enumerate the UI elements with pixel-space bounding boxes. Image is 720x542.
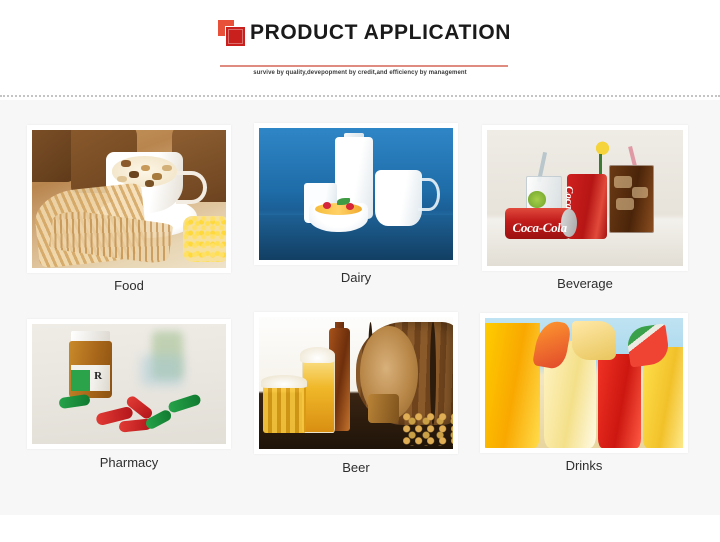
product-image-drinks xyxy=(485,318,683,448)
thumbnail-frame-beer xyxy=(254,312,458,454)
product-card-drinks[interactable]: Drinks xyxy=(480,313,688,453)
coca-cola-logo-front: Coca-Cola xyxy=(512,220,566,236)
product-label-beer: Beer xyxy=(254,460,458,475)
product-image-pharmacy: R xyxy=(32,324,226,444)
product-label-dairy: Dairy xyxy=(254,270,458,285)
product-image-food xyxy=(32,130,226,268)
title-underline-rule xyxy=(220,65,508,67)
prescription-rx-mark: R xyxy=(94,370,102,382)
page-title: PRODUCT APPLICATION xyxy=(250,18,508,48)
thumbnail-frame-drinks xyxy=(480,313,688,453)
product-label-drinks: Drinks xyxy=(480,458,688,473)
thumbnail-frame-beverage: Coca-Cola Coca-Cola xyxy=(482,125,688,271)
product-label-beverage: Beverage xyxy=(482,276,688,291)
logo-square-front-icon xyxy=(225,26,246,47)
title-row: PRODUCT APPLICATION xyxy=(212,18,508,50)
product-card-dairy[interactable]: Dairy xyxy=(254,123,458,265)
product-label-food: Food xyxy=(27,278,231,293)
page-subtitle: survive by quality,devepopment by credit… xyxy=(212,70,508,76)
thumbnail-frame-pharmacy: R xyxy=(27,319,231,449)
thumbnail-frame-dairy xyxy=(254,123,458,265)
product-image-beer xyxy=(259,317,453,449)
two-red-squares-logo-icon xyxy=(218,20,252,48)
product-label-pharmacy: Pharmacy xyxy=(27,455,231,470)
product-card-beer[interactable]: Beer xyxy=(254,312,458,454)
product-card-beverage[interactable]: Coca-Cola Coca-Cola Beverage xyxy=(482,125,688,271)
brand-block: PRODUCT APPLICATION survive by quality,d… xyxy=(212,18,508,50)
page-header: PRODUCT APPLICATION survive by quality,d… xyxy=(0,0,720,95)
header-divider xyxy=(0,95,720,97)
thumbnail-frame-food xyxy=(27,125,231,273)
product-application-panel: Food Dairy xyxy=(0,100,720,515)
product-image-beverage: Coca-Cola Coca-Cola xyxy=(487,130,683,266)
product-card-food[interactable]: Food xyxy=(27,125,231,273)
product-image-dairy xyxy=(259,128,453,260)
product-card-pharmacy[interactable]: R Pharmacy xyxy=(27,319,231,449)
